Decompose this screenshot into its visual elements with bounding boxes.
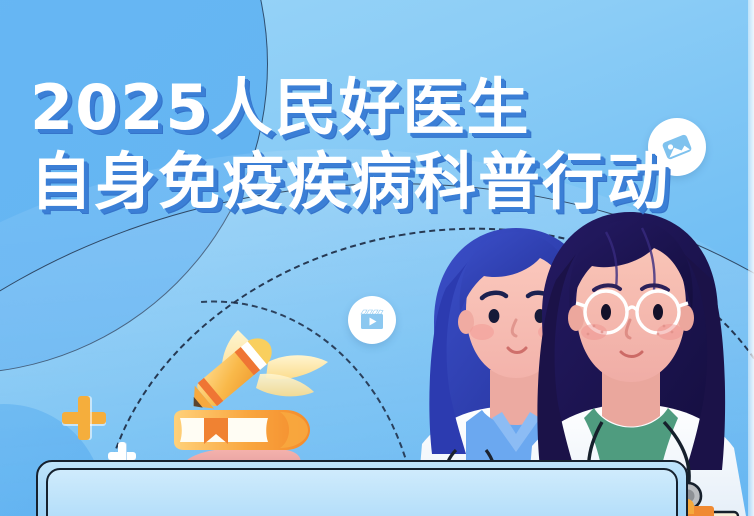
page-title: 2025人民好医生 自身免疫疾病科普行动	[30, 78, 670, 211]
headline-line-1: 2025人民好医生	[30, 78, 670, 138]
desk-counter-lip	[46, 468, 678, 516]
video-badge[interactable]	[348, 296, 396, 344]
plus-icon-orange	[62, 396, 106, 440]
video-icon	[357, 305, 387, 335]
book-icon	[174, 410, 310, 450]
poster-banner: 2025人民好医生 自身免疫疾病科普行动	[0, 0, 754, 516]
headline-line-2: 自身免疫疾病科普行动	[30, 152, 670, 212]
